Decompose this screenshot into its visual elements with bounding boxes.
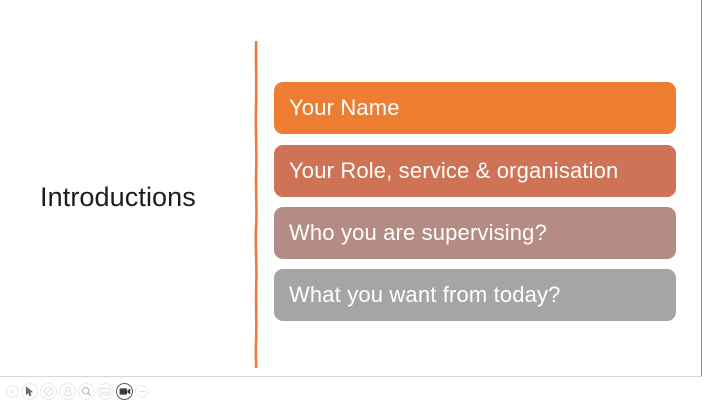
back-arrow-icon[interactable] xyxy=(6,385,19,398)
no-entry-icon[interactable] xyxy=(40,383,57,400)
lock-icon[interactable] xyxy=(59,383,76,400)
magnifier-icon[interactable] xyxy=(78,383,95,400)
minus-icon[interactable] xyxy=(135,385,148,398)
content-bar-label: Your Role, service & organisation xyxy=(274,158,618,184)
content-bar-label: Your Name xyxy=(274,95,400,121)
slide-frame-right-edge xyxy=(701,0,702,376)
content-bar-who-supervising: Who you are supervising? xyxy=(274,207,676,259)
content-bar-your-name: Your Name xyxy=(274,82,676,134)
video-player[interactable]: Introductions Your Name Your Role, servi… xyxy=(0,0,720,405)
content-bar-your-role: Your Role, service & organisation xyxy=(274,145,676,197)
player-control-bar[interactable] xyxy=(0,377,720,405)
content-bar-what-you-want: What you want from today? xyxy=(274,269,676,321)
subtitles-icon[interactable] xyxy=(97,383,114,400)
page-title: Introductions xyxy=(40,180,245,214)
slide-canvas: Introductions Your Name Your Role, servi… xyxy=(0,0,701,376)
camera-icon[interactable] xyxy=(116,383,133,400)
hand-drawn-vertical-line-icon xyxy=(249,41,263,368)
content-bar-label: What you want from today? xyxy=(274,282,561,308)
cursor-pointer-icon[interactable] xyxy=(21,383,38,400)
content-bar-label: Who you are supervising? xyxy=(274,220,547,246)
vertical-divider xyxy=(249,41,263,368)
